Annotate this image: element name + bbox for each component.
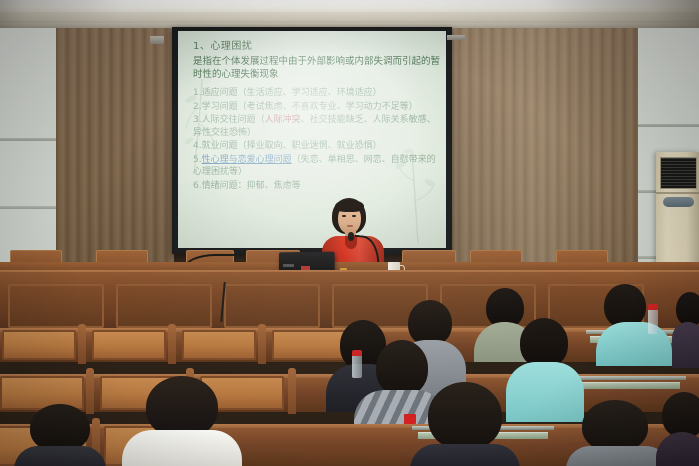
audience-member-white-shirt-front <box>122 376 242 466</box>
slide-item-4: 4.就业问题（择业取向、职业迷惘、就业恐惧） <box>193 140 441 153</box>
air-conditioner-seam <box>656 192 699 194</box>
head <box>146 376 218 438</box>
ceiling-shadow-right <box>540 0 699 29</box>
slide-title: 1、心理困扰 <box>193 37 441 52</box>
bench-post <box>168 324 176 364</box>
item-number: 5. <box>193 155 202 165</box>
item-text: 情绪问题：抑郁、焦虑等 <box>202 181 301 191</box>
item-number: 2. <box>193 102 202 112</box>
water-bottle-cap-left <box>352 350 362 356</box>
slide-item-5: 5.性心理与恋爱心理问题（失恋、单相思、网恋、自慰带来的心理困扰等） <box>193 154 441 179</box>
bench-post <box>78 324 86 364</box>
torso <box>566 446 670 466</box>
torso <box>656 432 699 466</box>
item-text: 学习问题（考试焦虑、不喜欢专业、学习动力不足等） <box>202 102 418 112</box>
torso-teal-top <box>596 322 672 366</box>
podium-panel <box>8 284 104 328</box>
seat-back <box>182 330 256 360</box>
audience-member-front-center <box>410 382 520 466</box>
item-text: 就业问题（择业取向、职业迷惘、就业恐惧） <box>202 141 382 151</box>
head <box>582 400 648 452</box>
torso <box>672 322 699 368</box>
audience-member-front-right <box>566 400 670 466</box>
ceiling-shadow-left <box>0 0 120 29</box>
laptop-brand-text <box>283 264 294 267</box>
audience-member-right-edge <box>672 292 699 366</box>
presenter-eye-left <box>342 215 346 217</box>
air-conditioner-grille-icon <box>660 157 697 189</box>
seat-back <box>92 330 166 360</box>
item-number: 1. <box>193 88 202 98</box>
speaker-box-left <box>150 36 164 44</box>
seat-back <box>2 330 76 360</box>
item-number: 6. <box>193 181 202 191</box>
audience-member-front-left <box>14 404 106 466</box>
presenter-mouth <box>347 225 353 227</box>
head <box>520 318 568 368</box>
podium-panel <box>116 284 212 328</box>
speaker-box-right <box>447 35 465 40</box>
lecture-hall-photo: 1、心理困扰 是指在个体发展过程中由于外部影响或内部失调而引起的暂时性的心理失衡… <box>0 0 699 466</box>
item-text: 适应问题（生活适应、学习适应、环境适应） <box>202 88 382 98</box>
audience-member-far-right <box>656 392 699 466</box>
slide-item-3: 3.人际交往问题（人际冲突、社交技能缺乏、人际关系敏感、异性交往恐怖） <box>193 114 441 139</box>
water-bottle-right <box>648 308 658 334</box>
torso <box>14 446 106 466</box>
slide-bullet-list: 1.适应问题（生活适应、学习适应、环境适应） 2.学习问题（考试焦虑、不喜欢专业… <box>193 87 441 192</box>
bench-post <box>258 324 266 364</box>
projection-screen: 1、心理困扰 是指在个体发展过程中由于外部影响或内部失调而引起的暂时性的心理失衡… <box>178 31 446 248</box>
audience-member-teal <box>596 286 672 366</box>
slide-content: 1、心理困扰 是指在个体发展过程中由于外部影响或内部失调而引起的暂时性的心理失衡… <box>178 31 446 248</box>
podium-panel <box>224 284 320 328</box>
microphone-head-icon <box>348 232 354 241</box>
bench-post <box>288 368 296 414</box>
water-bottle-cap-right <box>648 304 658 310</box>
slide-definition: 是指在个体发展过程中由于外部影响或内部失调而引起的暂时性的心理失衡现象 <box>193 55 441 81</box>
head <box>30 404 90 452</box>
head <box>676 292 699 326</box>
slide-item-2: 2.学习问题（考试焦虑、不喜欢专业、学习动力不足等） <box>193 101 441 114</box>
item-hyperlink[interactable]: 性心理与恋爱心理问题 <box>202 155 292 165</box>
water-bottle-left <box>352 354 362 378</box>
desk-surface <box>580 382 680 389</box>
item-text: 人际交往问题（ <box>202 115 265 125</box>
slide-item-1: 1.适应问题（生活适应、学习适应、环境适应） <box>193 87 441 100</box>
air-conditioner-display-panel <box>663 197 694 207</box>
presenter-eye-right <box>352 215 356 217</box>
slide-item-6: 6.情绪问题：抑郁、焦虑等 <box>193 180 441 193</box>
item-number: 4. <box>193 141 202 151</box>
head <box>428 382 502 450</box>
torso-white-shirt <box>122 430 242 466</box>
torso <box>410 444 520 466</box>
item-number: 3. <box>193 115 202 125</box>
presenter-fringe <box>335 200 364 212</box>
item-highlight: 人际冲突 <box>265 115 301 125</box>
desk-rail <box>576 376 686 380</box>
